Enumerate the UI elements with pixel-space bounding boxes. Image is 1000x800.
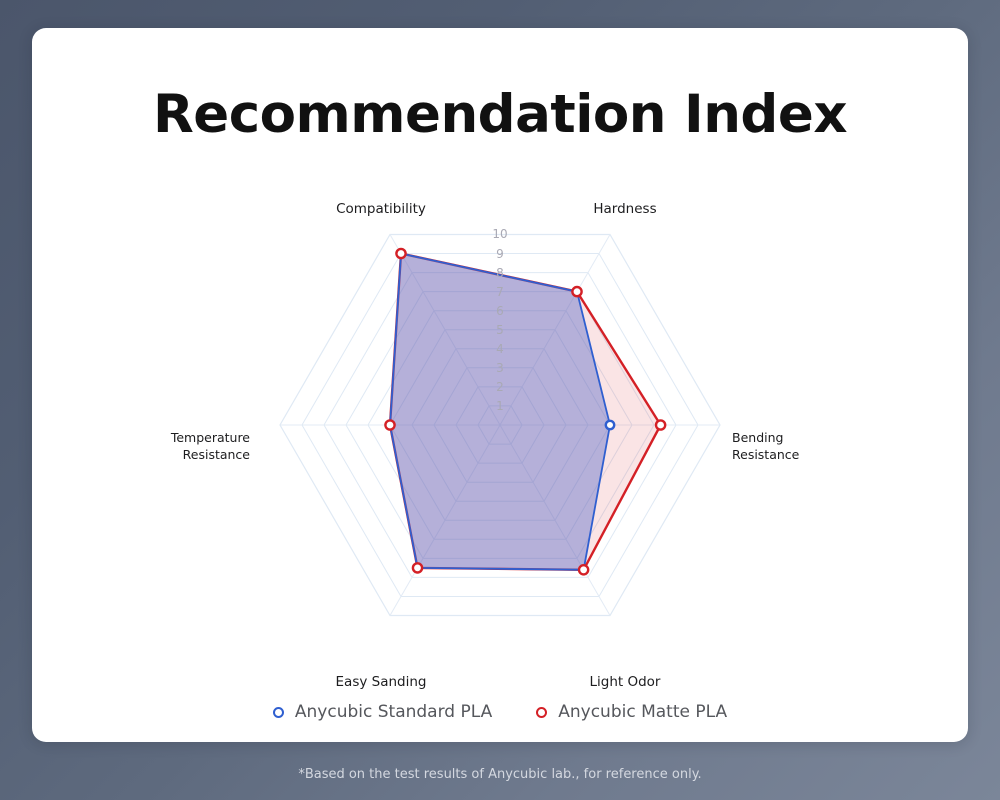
- legend-marker-icon: [536, 707, 547, 718]
- legend-marker-icon: [273, 707, 284, 718]
- footnote: *Based on the test results of Anycubic l…: [0, 767, 1000, 782]
- data-point-matte-4: [413, 563, 422, 572]
- tick-label-10: 10: [483, 227, 517, 241]
- legend-item-0[interactable]: Anycubic Standard PLA: [273, 702, 492, 722]
- axis-label-easy-sanding: Easy Sanding: [301, 673, 461, 691]
- tick-label-8: 8: [483, 266, 517, 280]
- data-point-matte-0: [396, 249, 405, 258]
- data-point-matte-1: [572, 287, 581, 296]
- axis-label-light-odor: Light Odor: [545, 673, 705, 691]
- tick-label-1: 1: [483, 399, 517, 413]
- tick-label-2: 2: [483, 380, 517, 394]
- data-point-standard-2: [606, 421, 614, 429]
- legend-item-1[interactable]: Anycubic Matte PLA: [536, 702, 727, 722]
- tick-label-5: 5: [483, 323, 517, 337]
- chart-card: Recommendation Index 10987654321 Compati…: [32, 28, 968, 742]
- axis-label-hardness: Hardness: [545, 200, 705, 218]
- tick-label-6: 6: [483, 304, 517, 318]
- tick-label-3: 3: [483, 361, 517, 375]
- data-point-matte-3: [579, 565, 588, 574]
- data-point-matte-5: [385, 420, 394, 429]
- axis-label-bending-resistance: Bending Resistance: [732, 430, 862, 464]
- tick-label-4: 4: [483, 342, 517, 356]
- data-point-matte-2: [656, 420, 665, 429]
- screenshot-stage: Recommendation Index 10987654321 Compati…: [0, 0, 1000, 800]
- axis-label-compatibility: Compatibility: [301, 200, 461, 218]
- tick-label-7: 7: [483, 285, 517, 299]
- chart-legend: Anycubic Standard PLAAnycubic Matte PLA: [32, 702, 968, 722]
- radar-chart: 10987654321 Compatibility Hardness Bendi…: [32, 28, 968, 742]
- legend-label: Anycubic Matte PLA: [558, 702, 727, 722]
- legend-label: Anycubic Standard PLA: [295, 702, 492, 722]
- tick-label-9: 9: [483, 247, 517, 261]
- axis-label-temperature-resistance: Temperature Resistance: [120, 430, 250, 464]
